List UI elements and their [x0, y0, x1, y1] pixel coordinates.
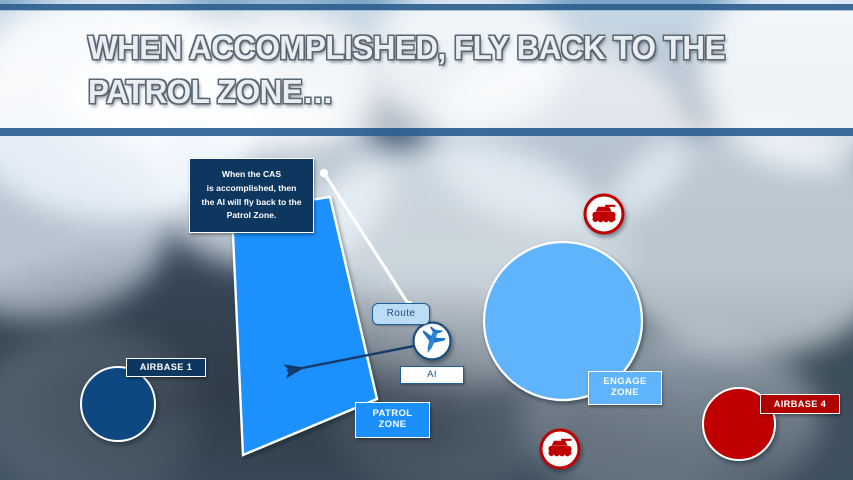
airbase-4-label[interactable]: AIRBASE 4	[760, 394, 840, 414]
fighter-jet-icon[interactable]	[414, 323, 451, 360]
ai-label-text: AI	[427, 370, 437, 381]
ai-label[interactable]: AI	[400, 366, 464, 384]
airbase-1-label-text: AIRBASE 1	[140, 362, 193, 373]
no-entry-tank-icon-north[interactable]	[585, 195, 623, 233]
callout-line-3: the AI will fly back to the	[202, 196, 302, 210]
airbase-1-label[interactable]: AIRBASE 1	[126, 358, 206, 377]
engage-zone-label[interactable]: ENGAGE ZONE	[588, 371, 662, 405]
route-label-text: Route	[387, 308, 416, 320]
engage-zone-label-line-2: ZONE	[611, 387, 639, 398]
callout-line-1: When the CAS	[202, 168, 302, 182]
callout-line-2: is accomplished, then	[202, 182, 302, 196]
route-label[interactable]: Route	[372, 303, 430, 325]
patrol-zone-label-line-1: PATROL	[372, 408, 412, 419]
callout-line-4: Patrol Zone.	[202, 209, 302, 223]
engage-zone-label-line-1: ENGAGE	[603, 376, 647, 387]
patrol-zone-label[interactable]: PATROL ZONE	[355, 402, 430, 438]
no-entry-tank-icon-south[interactable]	[541, 430, 579, 468]
slide-canvas: WHEN ACCOMPLISHED, FLY BACK TO THE PATRO…	[0, 0, 853, 480]
airbase-1-marker[interactable]	[81, 367, 155, 441]
airbase-4-label-text: AIRBASE 4	[774, 399, 827, 410]
patrol-zone-label-line-2: ZONE	[378, 419, 406, 430]
callout-textbox[interactable]: When the CAS is accomplished, then the A…	[189, 158, 314, 233]
